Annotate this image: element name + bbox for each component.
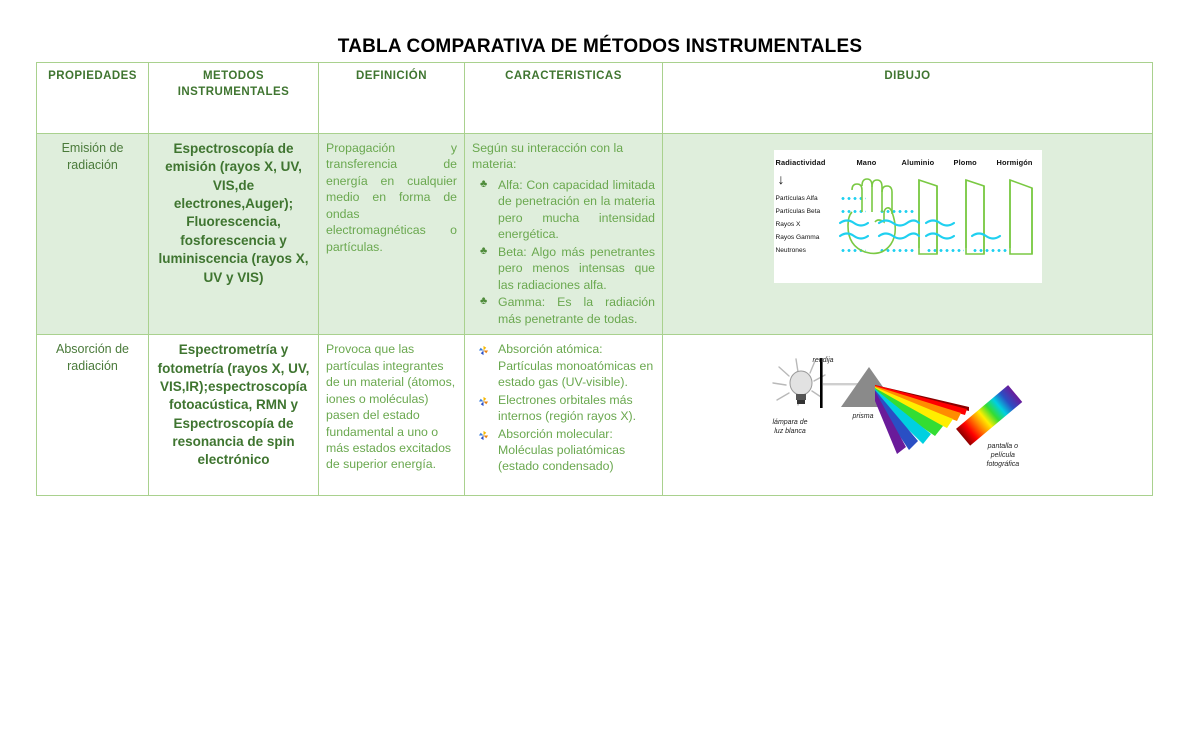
cell-dibujo: rendija lámpara de luz blanca prisma pan… (663, 335, 1153, 496)
label-rendija: rendija (813, 357, 834, 366)
prism-dispersion-diagram: rendija lámpara de luz blanca prisma pan… (763, 345, 1053, 485)
caracteristicas-list: ♣ Alfa: Con capacidad limitada de penetr… (472, 177, 655, 327)
table-row: Absorción de radiación Espectrometría y … (37, 335, 1153, 496)
list-item: ♣ Alfa: Con capacidad limitada de penetr… (472, 177, 655, 243)
club-bullet-icon: ♣ (480, 244, 487, 259)
cell-propiedad: Emisión de radiación (37, 134, 149, 335)
label-pantalla-pelicula-fotografica: pantalla o película fotográfica (987, 443, 1020, 469)
cell-caracteristicas: Según su interacción con la materia: ♣ A… (465, 134, 663, 335)
club-bullet-icon: ♣ (480, 177, 487, 192)
radiation-penetration-diagram: Radiactividad ↓ Mano Aluminio Plomo Horm… (774, 150, 1042, 283)
column-header-metodos-instrumentales: METODOS INSTRUMENTALES (149, 63, 319, 134)
pinwheel-bullet-icon (478, 429, 489, 440)
radiation-diagram-svg (774, 150, 1042, 283)
list-item: Absorción atómica: Partículas monoatómic… (472, 341, 655, 390)
pinwheel-bullet-icon (478, 344, 489, 355)
cell-metodo: Espectroscopía de emisión (rayos X, UV, … (149, 134, 319, 335)
cell-definicion: Propagación y transferencia de energía e… (319, 134, 465, 335)
cell-dibujo: Radiactividad ↓ Mano Aluminio Plomo Horm… (663, 134, 1153, 335)
cell-propiedad: Absorción de radiación (37, 335, 149, 496)
column-header-definicion: DEFINICIÓN (319, 63, 465, 134)
column-header-dibujo: DIBUJO (663, 63, 1153, 134)
cell-definicion: Provoca que las partículas integrantes d… (319, 335, 465, 496)
column-header-propiedades: PROPIEDADES (37, 63, 149, 134)
list-item: Absorción molecular: Moléculas poliatómi… (472, 426, 655, 475)
label-prisma: prisma (853, 413, 874, 422)
page-title: TABLA COMPARATIVA DE MÉTODOS INSTRUMENTA… (0, 36, 1200, 58)
club-bullet-icon: ♣ (480, 294, 487, 309)
list-item-label: Absorción molecular: Moléculas poliatómi… (498, 427, 625, 474)
comparison-table: PROPIEDADES METODOS INSTRUMENTALES DEFIN… (36, 62, 1153, 496)
table-row: Emisión de radiación Espectroscopía de e… (37, 134, 1153, 335)
list-item: Electrones orbitales más internos (regió… (472, 392, 655, 425)
list-item-label: Alfa: Con capacidad limitada de penetrac… (498, 178, 655, 241)
list-item-label: Absorción atómica: Partículas monoatómic… (498, 342, 653, 389)
table-header-row: PROPIEDADES METODOS INSTRUMENTALES DEFIN… (37, 63, 1153, 134)
cell-metodo: Espectrometría y fotometría (rayos X, UV… (149, 335, 319, 496)
list-item: ♣ Beta: Algo más penetrantes pero menos … (472, 244, 655, 293)
caracteristicas-intro: Según su interacción con la materia: (472, 140, 655, 173)
list-item: ♣ Gamma: Es la radiación más penetrante … (472, 294, 655, 327)
pinwheel-bullet-icon (478, 395, 489, 406)
label-lampara-luz-blanca: lámpara de luz blanca (773, 419, 808, 437)
column-header-caracteristicas: CARACTERISTICAS (465, 63, 663, 134)
cell-caracteristicas: Absorción atómica: Partículas monoatómic… (465, 335, 663, 496)
list-item-label: Electrones orbitales más internos (regió… (498, 393, 636, 423)
list-item-label: Gamma: Es la radiación más penetrante de… (498, 295, 655, 325)
caracteristicas-list: Absorción atómica: Partículas monoatómic… (472, 341, 655, 475)
list-item-label: Beta: Algo más penetrantes pero menos in… (498, 245, 655, 292)
document-page: TABLA COMPARATIVA DE MÉTODOS INSTRUMENTA… (0, 0, 1200, 729)
